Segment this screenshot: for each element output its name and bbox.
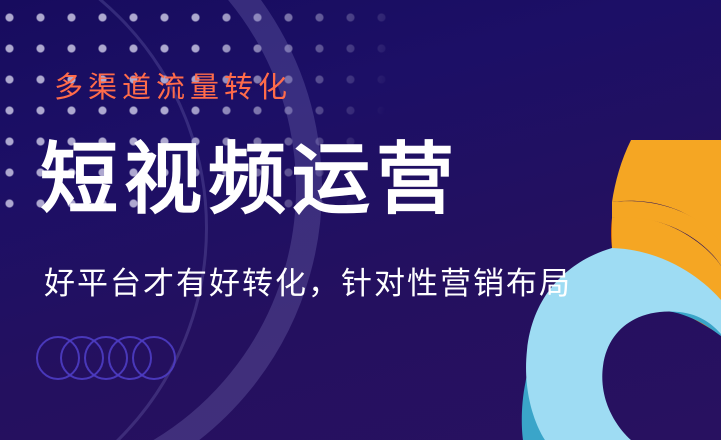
eyebrow-text: 多渠道流量转化 bbox=[54, 64, 292, 106]
purple-ring-icon bbox=[132, 336, 176, 380]
page-title: 短视频运营 bbox=[40, 136, 460, 224]
promo-banner: 多渠道流量转化 短视频运营 好平台才有好转化，针对性营销布局 bbox=[0, 0, 721, 440]
subtitle-text: 好平台才有好转化，针对性营销布局 bbox=[44, 258, 572, 303]
